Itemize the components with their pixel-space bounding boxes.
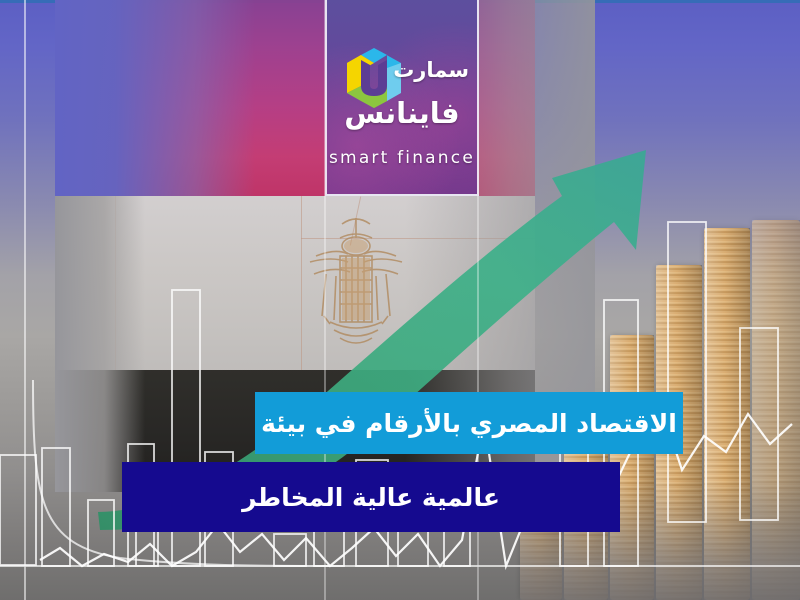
logo-arabic-line-1: سمارت — [393, 58, 469, 82]
headline-banner-secondary: عالمية عالية المخاطر — [122, 462, 620, 532]
promo-graphic: سمارت فاينانس smart finance الاقتصاد الم… — [0, 0, 800, 600]
logo-english-name: smart finance — [327, 148, 477, 168]
brand-logo-band: سمارت فاينانس smart finance — [325, 0, 479, 196]
logo-arabic-line-2: فاينانس — [327, 96, 477, 130]
headline-banner-primary: الاقتصاد المصري بالأرقام في بيئة — [255, 392, 683, 454]
headline-line-1: الاقتصاد المصري بالأرقام في بيئة — [261, 409, 677, 438]
headline-line-2: عالمية عالية المخاطر — [242, 483, 500, 512]
